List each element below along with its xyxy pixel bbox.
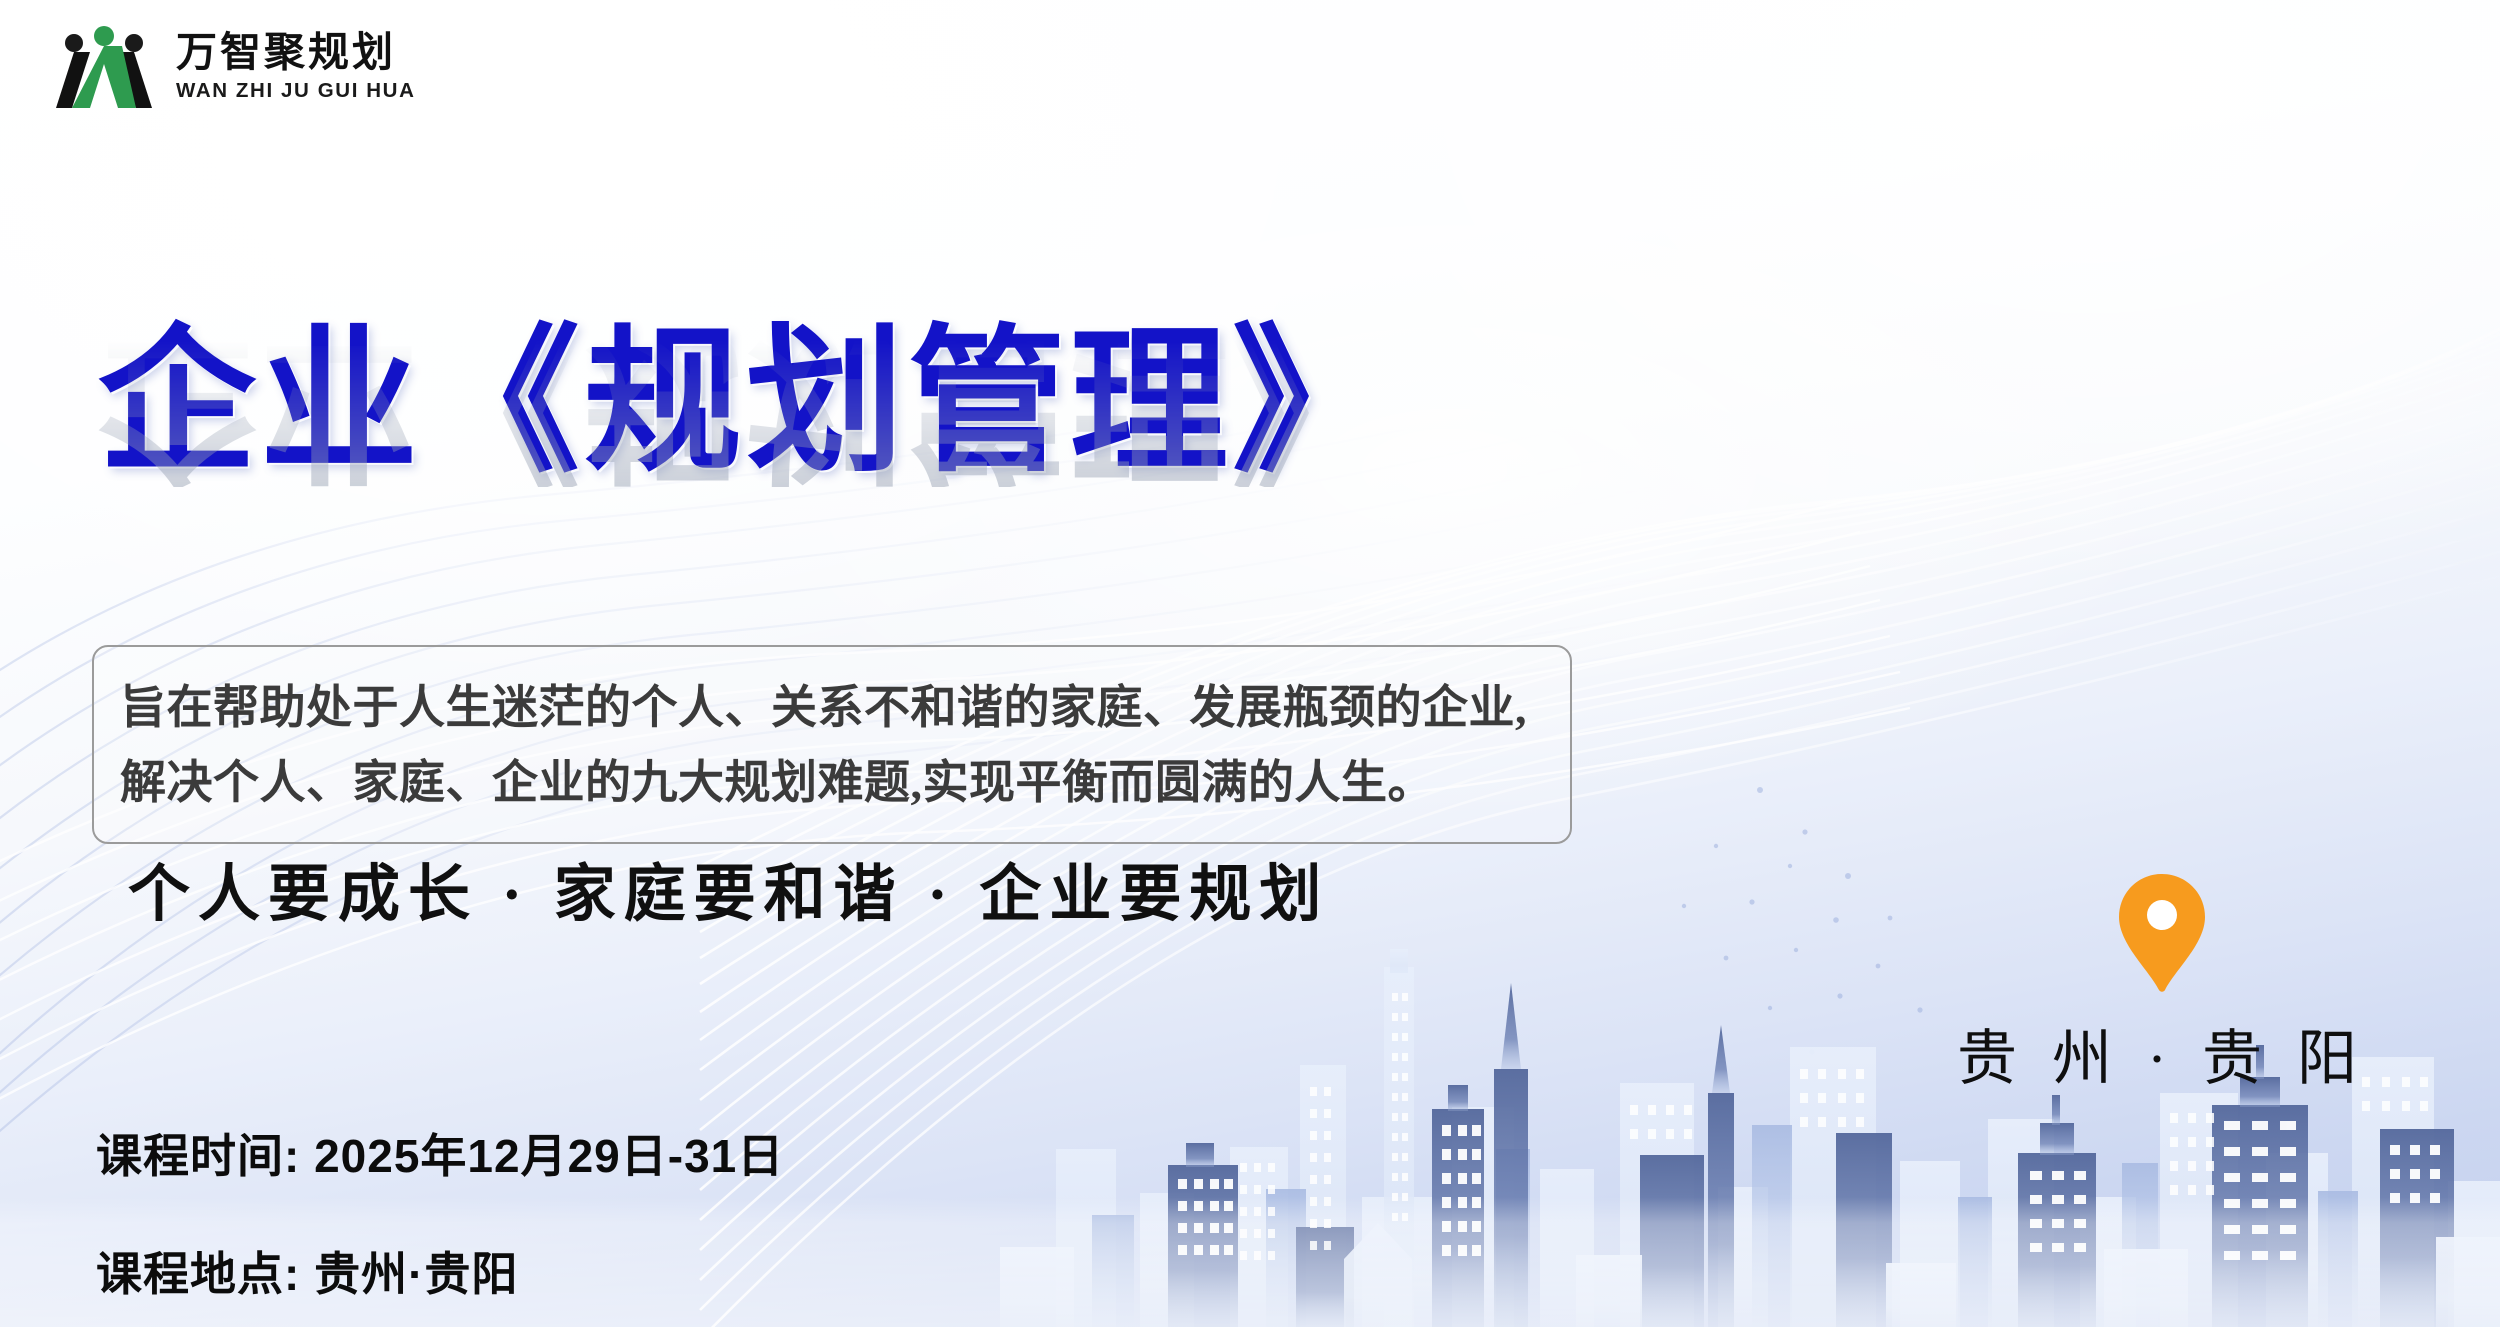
course-time: 课程时间: 2025年12月29日-31日 (96, 1120, 784, 1186)
tagline: 个人要成长 · 家庭要和谐 · 企业要规划 (128, 843, 1329, 933)
description-box: 旨在帮助处于人生迷茫的个人、关系不和谐的家庭、发展瓶颈的企业, 解决个人、家庭、… (92, 645, 1572, 844)
three-people-logo-icon (48, 22, 160, 112)
course-place: 课程地点: 贵州·贵阳 (96, 1238, 784, 1304)
brand-logo[interactable]: 万智聚规划 WAN ZHI JU GUI HUA (48, 22, 416, 112)
description-line-2: 解决个人、家庭、企业的九大规划难题,实现平衡而圆满的人生。 (120, 746, 1544, 821)
course-info-block: 课程时间: 2025年12月29日-31日 课程地点: 贵州·贵阳 (96, 1120, 784, 1304)
map-pin-icon (2116, 872, 2208, 994)
location-label: 贵 州 · 贵 阳 (1952, 1010, 2372, 1097)
brand-text: 万智聚规划 WAN ZHI JU GUI HUA (176, 31, 416, 102)
page-title-reflection: 企业《规划管理》 (98, 326, 1578, 487)
brand-name-en: WAN ZHI JU GUI HUA (176, 79, 416, 103)
brand-name-cn: 万智聚规划 (176, 31, 416, 74)
location-block: 贵 州 · 贵 阳 (1952, 872, 2372, 1097)
description-line-1: 旨在帮助处于人生迷茫的个人、关系不和谐的家庭、发展瓶颈的企业, (120, 671, 1544, 746)
poster-canvas: 万智聚规划 WAN ZHI JU GUI HUA 企业《规划管理》 企业《规划管… (0, 0, 2500, 1327)
page-title-block: 企业《规划管理》 企业《规划管理》 (98, 322, 1578, 648)
